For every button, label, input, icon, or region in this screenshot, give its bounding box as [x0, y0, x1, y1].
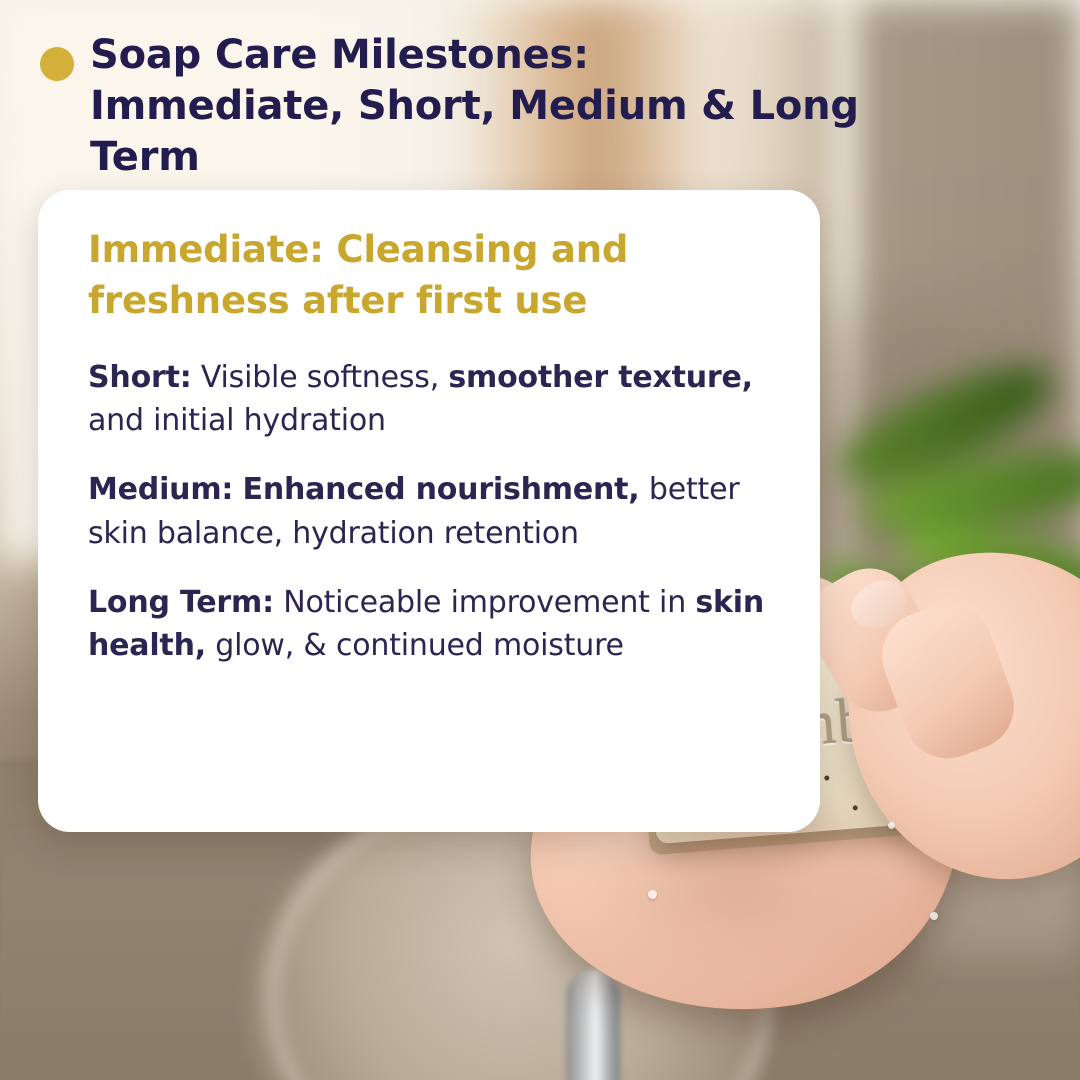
milestone-text-short-part2: and initial hydration	[88, 403, 386, 438]
milestone-label-short: Short:	[88, 360, 192, 395]
milestone-item-short: Short: Visible softness, smoother textur…	[88, 356, 774, 442]
bullet-dot-icon	[40, 47, 74, 81]
water-droplet	[648, 890, 657, 899]
page-title-line-1: Soap Care Milestones:	[90, 32, 589, 78]
water-droplet	[930, 912, 938, 920]
milestone-emphasis-short: smoother texture,	[448, 360, 753, 395]
milestone-text-medium-part1	[233, 472, 242, 507]
milestone-item-medium: Medium: Enhanced nourishment, better ski…	[88, 468, 774, 554]
poster-canvas: timb. Soap Care Milestones:Immediate, Sh…	[0, 0, 1080, 1080]
milestone-text-short-part1: Visible softness,	[192, 360, 449, 395]
milestone-emphasis-medium: Enhanced nourishment,	[243, 472, 640, 507]
milestone-item-long-term: Long Term: Noticeable improvement in ski…	[88, 581, 774, 667]
page-title-line-2: Immediate, Short, Medium & Long Term	[90, 83, 859, 180]
milestone-label-long-term: Long Term:	[88, 585, 274, 620]
milestone-text-long-term-part1: Noticeable improvement in	[274, 585, 695, 620]
milestone-label-medium: Medium:	[88, 472, 233, 507]
page-title: Soap Care Milestones:Immediate, Short, M…	[34, 30, 934, 184]
milestones-card: Immediate: Cleansing and freshness after…	[38, 190, 820, 832]
card-heading: Immediate: Cleansing and freshness after…	[88, 224, 774, 326]
headline-block: Soap Care Milestones:Immediate, Short, M…	[34, 30, 934, 184]
water-droplet	[888, 822, 895, 829]
milestone-text-long-term-part2: glow, & continued moisture	[206, 628, 624, 663]
